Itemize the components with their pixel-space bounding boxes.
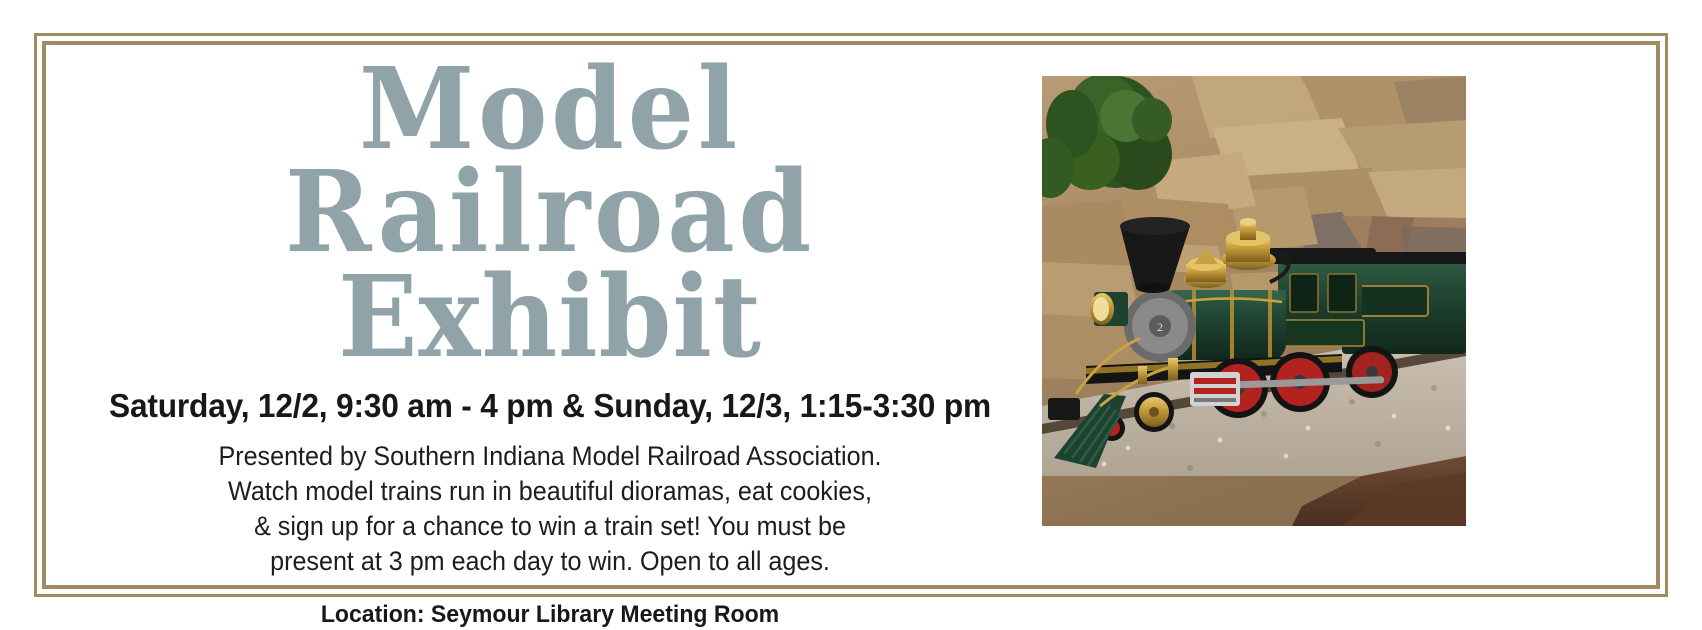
poster-content: Model Railroad Exhibit Saturday, 12/2, 9… (50, 50, 1652, 580)
svg-text:2: 2 (1157, 320, 1163, 334)
description-line: Presented by Southern Indiana Model Rail… (85, 439, 1015, 474)
text-column: Model Railroad Exhibit Saturday, 12/2, 9… (50, 50, 1050, 580)
event-description: Presented by Southern Indiana Model Rail… (85, 439, 1015, 579)
page-title: Model Railroad Exhibit (85, 50, 1015, 369)
event-location: Location: Seymour Library Meeting Room (70, 601, 1030, 629)
description-line: present at 3 pm each day to win. Open to… (85, 544, 1015, 579)
flyer-poster: Model Railroad Exhibit Saturday, 12/2, 9… (0, 0, 1702, 630)
title-line-2: Exhibit (85, 264, 1015, 369)
locomotive-photo-illustration: 2 (1042, 76, 1466, 526)
description-line: & sign up for a chance to win a train se… (85, 509, 1015, 544)
event-datetime: Saturday, 12/2, 9:30 am - 4 pm & Sunday,… (70, 387, 1030, 425)
description-line: Watch model trains run in beautiful dior… (85, 474, 1015, 509)
locomotive-photo: 2 (1042, 76, 1466, 526)
title-line-1: Model Railroad (85, 50, 1015, 264)
